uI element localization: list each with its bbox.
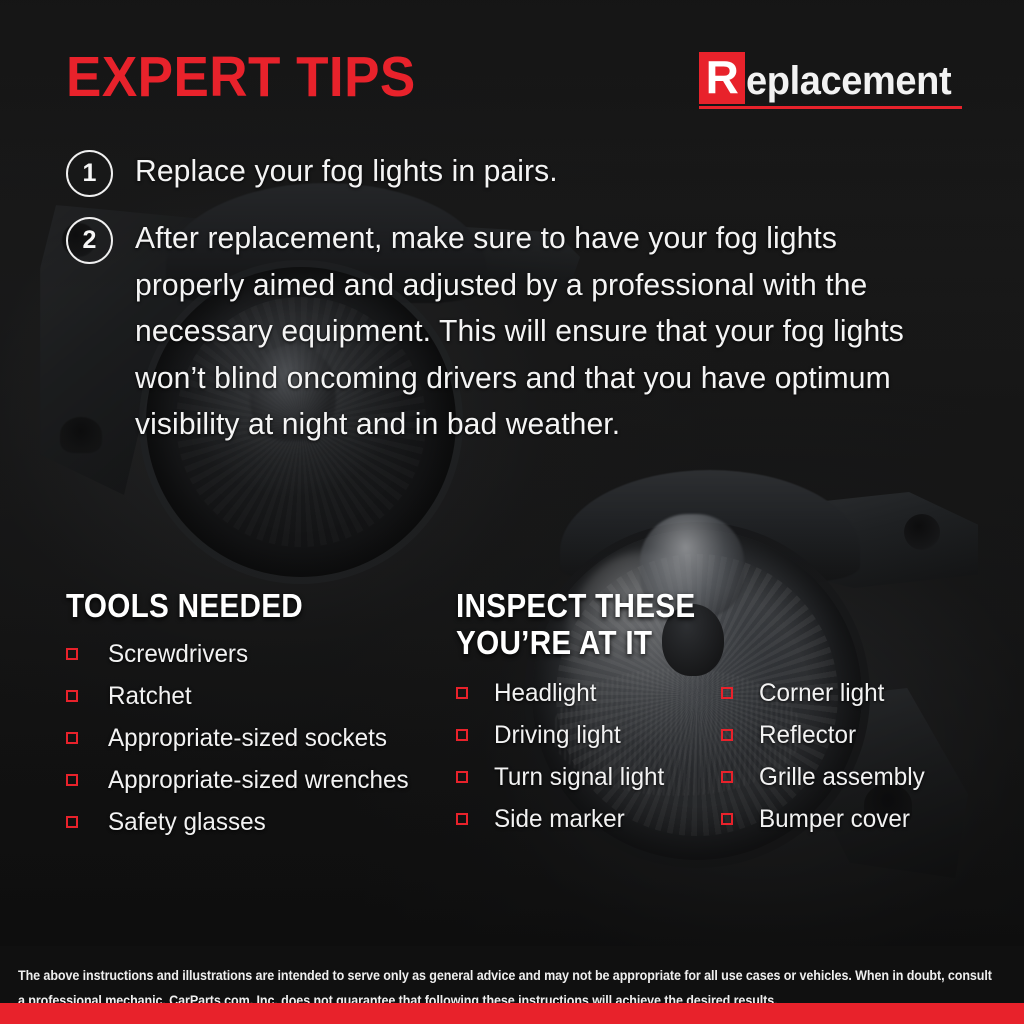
list-item[interactable]: Screwdrivers [66,639,456,669]
list-item-label: Reflector [759,720,856,750]
list-item[interactable]: Appropriate-sized wrenches [66,765,456,795]
list-item-label: Safety glasses [108,807,266,837]
list-item[interactable]: Driving light [456,720,721,750]
inspect-these-section: INSPECT THESE YOU’RE AT IT Headlight Dri… [456,588,986,849]
logo-initial: R [699,52,745,104]
tip-number-badge: 2 [66,217,113,264]
logo-wordmark: R eplacement [699,52,962,104]
checkbox-icon[interactable] [456,771,468,783]
list-item[interactable]: Reflector [721,720,986,750]
page-title: EXPERT TIPS [66,44,416,110]
replacement-logo: R eplacement [699,52,962,109]
tools-needed-section: TOOLS NEEDED Screwdrivers Ratchet Approp… [66,588,456,849]
list-item-label: Appropriate-sized wrenches [108,765,409,795]
tip-item: 2 After replacement, make sure to have y… [66,215,966,448]
logo-text: eplacement [746,61,951,104]
tip-text: Replace your fog lights in pairs. [135,148,558,195]
inspect-heading-line-2: YOU’RE AT IT [456,625,933,662]
list-item-label: Screwdrivers [108,639,248,669]
checkbox-icon[interactable] [456,729,468,741]
list-item-label: Appropriate-sized sockets [108,723,387,753]
checkbox-icon[interactable] [721,813,733,825]
tools-needed-heading: TOOLS NEEDED [66,588,417,625]
tools-needed-list: Screwdrivers Ratchet Appropriate-sized s… [66,639,456,837]
list-item[interactable]: Appropriate-sized sockets [66,723,456,753]
checkbox-icon[interactable] [66,732,78,744]
footer-disclaimer: The above instructions and illustrations… [0,946,1024,1003]
checkbox-icon[interactable] [66,774,78,786]
list-item[interactable]: Ratchet [66,681,456,711]
list-item-label: Corner light [759,678,884,708]
checkbox-icon[interactable] [721,771,733,783]
list-item-label: Ratchet [108,681,192,711]
checkbox-icon[interactable] [66,648,78,660]
content-layer: EXPERT TIPS R eplacement 1 Replace your … [0,0,1024,1024]
tip-text: After replacement, make sure to have you… [135,215,940,448]
list-item-label: Bumper cover [759,804,910,834]
list-item-label: Turn signal light [494,762,664,792]
list-item[interactable]: Headlight [456,678,721,708]
tip-number-badge: 1 [66,150,113,197]
checkbox-icon[interactable] [721,687,733,699]
list-item-label: Grille assembly [759,762,925,792]
expert-tips-infographic: EXPERT TIPS R eplacement 1 Replace your … [0,0,1024,1024]
list-item-label: Side marker [494,804,625,834]
list-item[interactable]: Turn signal light [456,762,721,792]
inspect-heading-line-1: INSPECT THESE [456,588,933,625]
list-item-label: Driving light [494,720,621,750]
checkbox-icon[interactable] [721,729,733,741]
checkbox-icon[interactable] [456,813,468,825]
inspect-list-column-right: Corner light Reflector Grille assembly B… [721,678,986,846]
logo-underline [699,106,962,109]
inspect-these-heading: INSPECT THESE YOU’RE AT IT [456,588,933,662]
list-item[interactable]: Corner light [721,678,986,708]
inspect-list-column-left: Headlight Driving light Turn signal ligh… [456,678,721,846]
expert-tips-list: 1 Replace your fog lights in pairs. 2 Af… [66,148,966,466]
checkbox-icon[interactable] [66,690,78,702]
list-item[interactable]: Safety glasses [66,807,456,837]
list-item-label: Headlight [494,678,596,708]
inspect-list-grid: Headlight Driving light Turn signal ligh… [456,678,986,846]
checklist-columns: TOOLS NEEDED Screwdrivers Ratchet Approp… [66,588,986,849]
bottom-accent-bar [0,1003,1024,1024]
tip-item: 1 Replace your fog lights in pairs. [66,148,966,197]
list-item[interactable]: Side marker [456,804,721,834]
list-item[interactable]: Grille assembly [721,762,986,792]
list-item[interactable]: Bumper cover [721,804,986,834]
checkbox-icon[interactable] [456,687,468,699]
checkbox-icon[interactable] [66,816,78,828]
